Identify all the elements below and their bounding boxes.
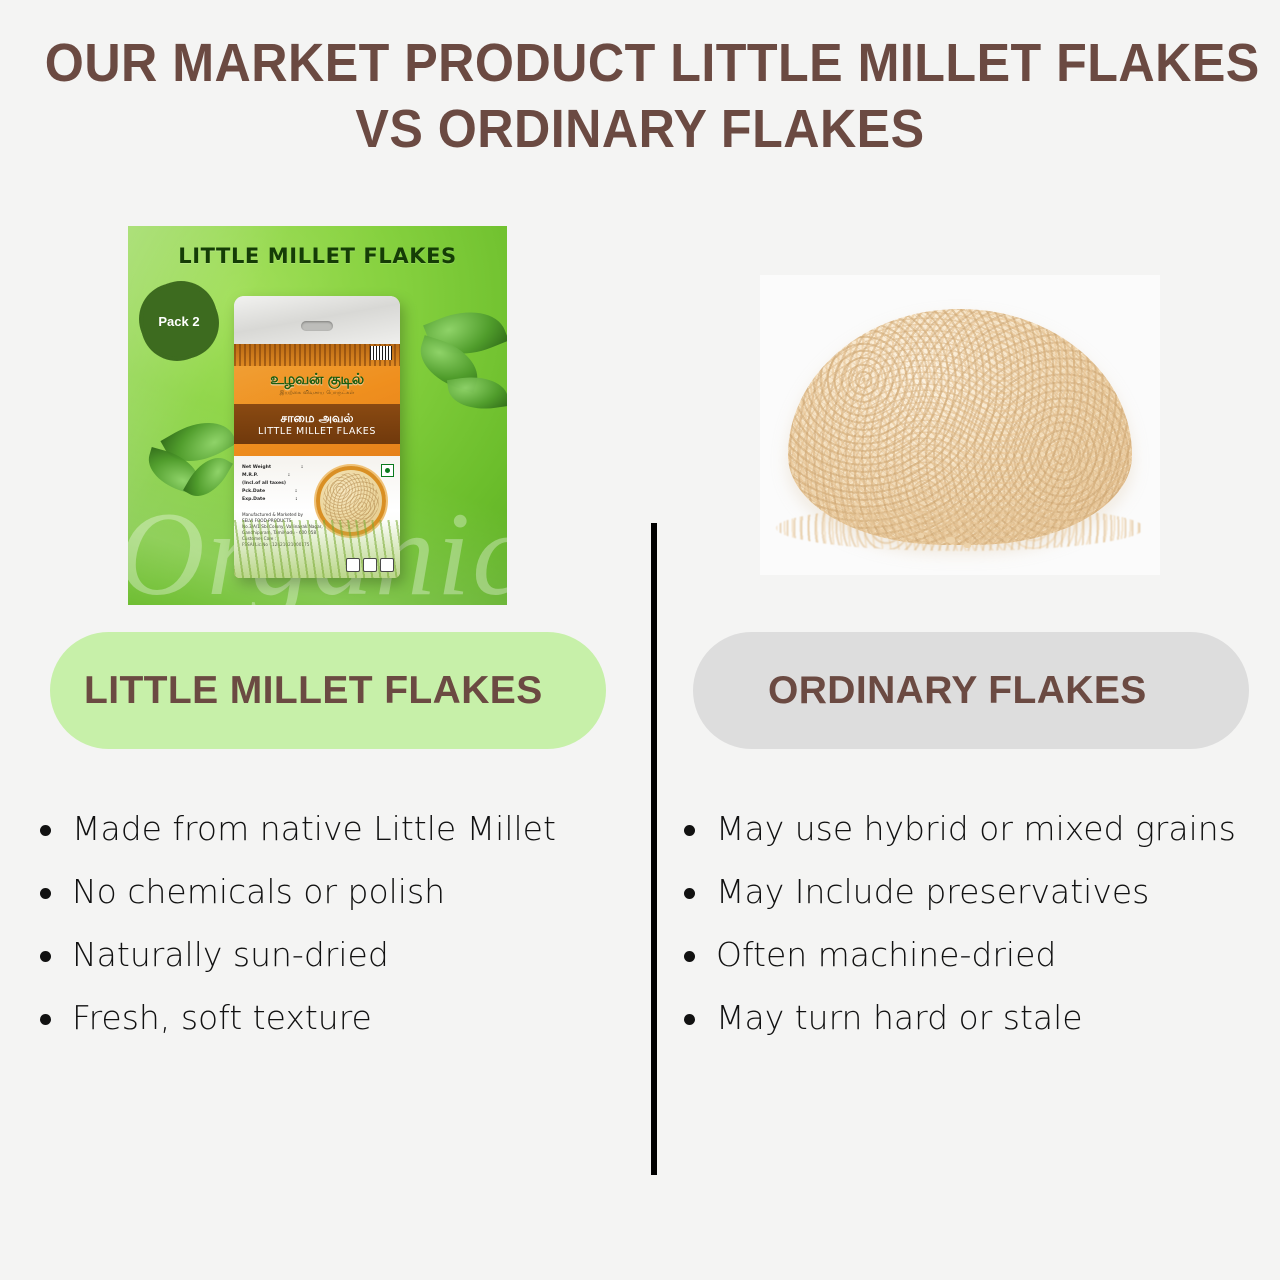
product-image-headline: LITTLE MILLET FLAKES (128, 244, 507, 268)
left-feature-list: Made from native Little Millet No chemic… (24, 800, 584, 1052)
list-item: Made from native Little Millet (24, 800, 584, 857)
pouch-brand-tagline: இயற்கை விவசாய பொருட்கள் (234, 390, 400, 396)
list-item: Naturally sun-dried (24, 926, 584, 983)
pouch-barcode-icon (370, 346, 392, 360)
right-category-label: ORDINARY FLAKES (768, 669, 1147, 713)
column-divider (651, 523, 657, 1175)
gluten-free-mark-icon (380, 558, 394, 572)
pack-quantity-badge: Pack 2 (143, 285, 215, 357)
right-category-pill: ORDINARY FLAKES (693, 632, 1249, 749)
flake-crumb (918, 533, 924, 538)
pouch-hang-hole (301, 321, 333, 331)
right-feature-list: May use hybrid or mixed grains May Inclu… (668, 800, 1268, 1052)
pouch-front-label: உழவன் குடில் இயற்கை விவசாய பொருட்கள் சாம… (234, 344, 400, 578)
left-category-pill: LITTLE MILLET FLAKES (50, 632, 606, 749)
flake-crumb (964, 543, 971, 548)
list-item: Often machine-dried (668, 926, 1268, 983)
list-item: May Include preservatives (668, 863, 1268, 920)
list-item: No chemicals or polish (24, 863, 584, 920)
page-title-line-1: OUR MARKET PRODUCT LITTLE MILLET FLAKES (45, 30, 1235, 96)
page-title-line-2: VS ORDINARY FLAKES (45, 96, 1235, 162)
pouch-product-name-tamil: சாமை அவல் (281, 411, 354, 425)
pouch-field-pck-date: Pck.Date (242, 489, 265, 494)
pouch-product-name-english: LITTLE MILLET FLAKES (258, 426, 376, 437)
pouch-brand-name: உழவன் குடில் (234, 370, 400, 390)
product-pouch: உழவன் குடில் இயற்கை விவசாய பொருட்கள் சாம… (234, 296, 400, 578)
flake-crumb (946, 537, 955, 543)
pouch-label-fields: Net Weight: M.R.P.: (Incl.of all taxes) … (242, 464, 303, 504)
pouch-info-panel: Net Weight: M.R.P.: (Incl.of all taxes) … (234, 456, 400, 578)
recycle-mark-icon (363, 558, 377, 572)
flakes-pile (788, 309, 1132, 545)
page-title: OUR MARKET PRODUCT LITTLE MILLET FLAKES … (0, 30, 1280, 162)
pouch-top-seal (234, 296, 400, 345)
pouch-field-net-weight: Net Weight (242, 465, 271, 470)
ordinary-flakes-product-image (760, 275, 1160, 575)
pouch-certification-marks (346, 558, 394, 572)
little-millet-flakes-product-image: Organic LITTLE MILLET FLAKES Pack 2 உழவன… (128, 226, 507, 605)
pouch-field-mrp: M.R.P. (242, 473, 258, 478)
list-item: Fresh, soft texture (24, 989, 584, 1046)
left-category-label: LITTLE MILLET FLAKES (84, 669, 543, 713)
pouch-field-taxes: (Incl.of all taxes) (242, 481, 286, 486)
pouch-product-name-bar: சாமை அவல் LITTLE MILLET FLAKES (234, 404, 400, 444)
list-item: May turn hard or stale (668, 989, 1268, 1046)
list-item: May use hybrid or mixed grains (668, 800, 1268, 857)
vegetarian-mark-icon (381, 464, 394, 477)
fssai-mark-icon (346, 558, 360, 572)
pouch-field-exp-date: Exp.Date (242, 497, 265, 502)
